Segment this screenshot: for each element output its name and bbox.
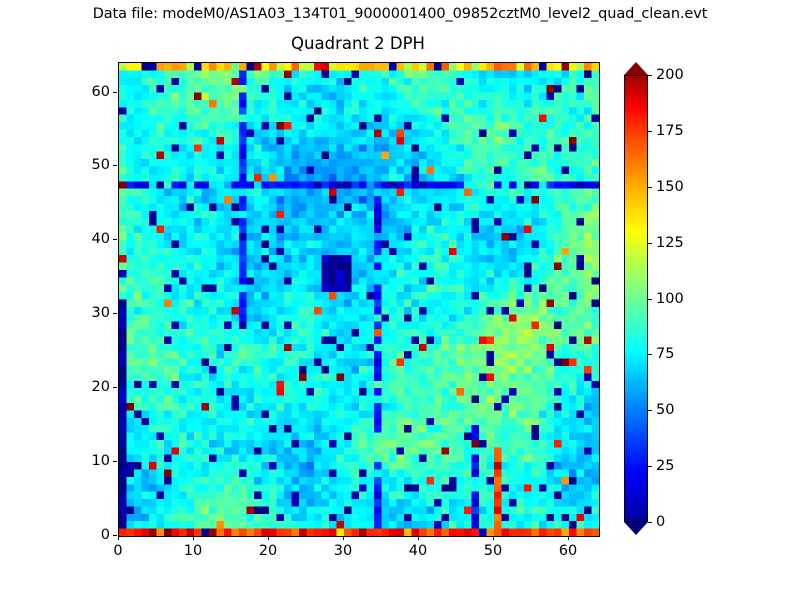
- colorbar-extend-max-arrow: [624, 62, 648, 76]
- colorbar-tick-mark: [648, 354, 652, 355]
- colorbar[interactable]: [624, 62, 648, 535]
- y-tick-label: 20: [70, 379, 110, 395]
- heatmap-axes[interactable]: [118, 62, 600, 537]
- x-tick-label: 0: [113, 543, 122, 559]
- y-tick-mark: [113, 535, 117, 536]
- figure-canvas: Data file: modeM0/AS1A03_134T01_90000014…: [0, 0, 800, 600]
- x-tick-label: 20: [259, 543, 277, 559]
- x-tick-mark: [343, 536, 344, 540]
- colorbar-tick-mark: [648, 299, 652, 300]
- colorbar-tick-mark: [648, 187, 652, 188]
- x-tick-mark: [268, 536, 269, 540]
- colorbar-tick-label: 50: [656, 402, 674, 418]
- figure-suptitle: Data file: modeM0/AS1A03_134T01_90000014…: [0, 6, 800, 22]
- y-tick-mark: [113, 92, 117, 93]
- colorbar-gradient: [624, 75, 648, 522]
- colorbar-tick-mark: [648, 131, 652, 132]
- colorbar-tick-label: 0: [656, 514, 665, 530]
- x-tick-label: 60: [559, 543, 577, 559]
- x-tick-label: 40: [409, 543, 427, 559]
- y-tick-mark: [113, 313, 117, 314]
- colorbar-tick-label: 100: [656, 291, 684, 307]
- colorbar-extend-min-arrow: [624, 521, 648, 535]
- x-tick-mark: [118, 536, 119, 540]
- colorbar-tick-label: 150: [656, 179, 684, 195]
- heatmap-image[interactable]: [119, 63, 599, 536]
- y-tick-label: 60: [70, 84, 110, 100]
- y-tick-mark: [113, 165, 117, 166]
- y-tick-mark: [113, 239, 117, 240]
- x-tick-mark: [418, 536, 419, 540]
- x-tick-label: 30: [334, 543, 352, 559]
- colorbar-tick-label: 25: [656, 458, 674, 474]
- colorbar-tick-mark: [648, 466, 652, 467]
- y-tick-label: 30: [70, 305, 110, 321]
- colorbar-tick-mark: [648, 410, 652, 411]
- y-tick-label: 10: [70, 453, 110, 469]
- x-tick-mark: [493, 536, 494, 540]
- colorbar-tick-label: 200: [656, 67, 684, 83]
- y-tick-label: 0: [70, 527, 110, 543]
- colorbar-tick-mark: [648, 522, 652, 523]
- page-title: Quadrant 2 DPH: [118, 34, 598, 53]
- colorbar-tick-label: 175: [656, 123, 684, 139]
- colorbar-tick-label: 125: [656, 235, 684, 251]
- colorbar-tick-mark: [648, 243, 652, 244]
- colorbar-tick-label: 75: [656, 346, 674, 362]
- colorbar-tick-mark: [648, 75, 652, 76]
- x-tick-mark: [193, 536, 194, 540]
- y-tick-label: 40: [70, 231, 110, 247]
- x-tick-label: 50: [484, 543, 502, 559]
- x-tick-mark: [568, 536, 569, 540]
- y-tick-label: 50: [70, 157, 110, 173]
- y-tick-mark: [113, 387, 117, 388]
- y-tick-mark: [113, 461, 117, 462]
- x-tick-label: 10: [184, 543, 202, 559]
